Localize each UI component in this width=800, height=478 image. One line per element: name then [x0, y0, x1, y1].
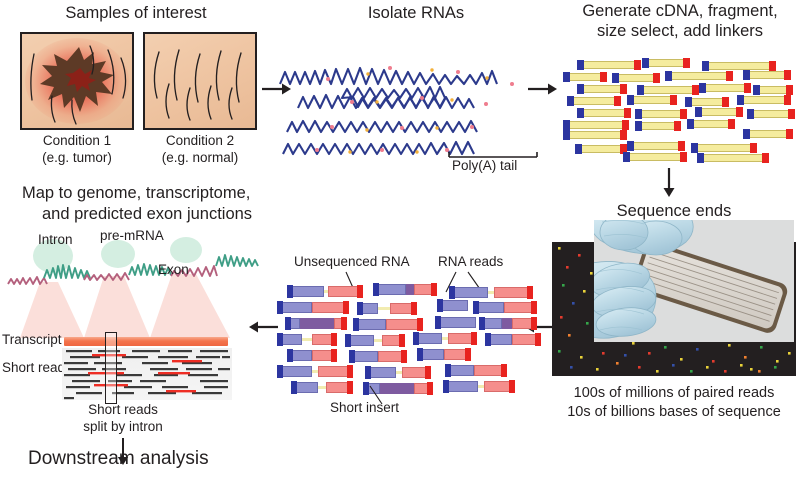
cdna-fragment — [626, 153, 684, 161]
arrow-rna-to-cdna — [528, 80, 558, 98]
cdna-fragment — [566, 121, 626, 129]
tumor-hairs — [22, 34, 134, 130]
read-pair — [474, 302, 536, 313]
read-pair — [414, 333, 476, 344]
cdna-fragment — [580, 85, 624, 93]
read-pair — [444, 381, 514, 392]
cdna-fragment — [746, 130, 790, 138]
read-pair — [374, 284, 436, 295]
cdna-fragment — [638, 110, 684, 118]
cdna-fragment — [638, 122, 678, 130]
cdna-fragment — [570, 97, 618, 105]
cdna-fragment — [756, 86, 790, 94]
read-pair — [438, 300, 468, 311]
read-pair-group — [278, 286, 550, 394]
cdna-heading-line2: size select, add linkers — [560, 22, 800, 40]
short-insert-label: Short insert — [330, 400, 399, 415]
cdna-fragment-group — [560, 58, 800, 163]
cdna-fragment — [580, 61, 638, 69]
mapping-heading-line2: and predicted exon junctions — [42, 205, 332, 223]
read-pair — [288, 350, 336, 361]
cdna-heading-line1: Generate cDNA, fragment, — [560, 2, 800, 20]
cdna-fragment — [630, 96, 674, 104]
condition-1-label-line1: Condition 1 — [6, 133, 148, 148]
samples-panel: Samples of interest — [0, 0, 272, 175]
transcript-label: Transcript — [2, 332, 62, 347]
mapped-reads — [62, 348, 232, 400]
read-pair — [354, 319, 422, 330]
flowcell-photo — [594, 220, 794, 342]
read-pair — [346, 335, 404, 346]
polya-tail-label: Poly(A) tail — [452, 158, 517, 173]
unsequenced-rna-label: Unsequenced RNA — [294, 254, 410, 269]
cdna-fragment — [668, 72, 730, 80]
mapped-reads-stack — [62, 348, 232, 400]
split-reads-caption-line2: split by intron — [48, 419, 198, 434]
cdna-fragment — [645, 59, 687, 67]
cdna-fragment — [705, 62, 773, 70]
isolate-rna-heading: Isolate RNAs — [272, 4, 560, 22]
cdna-fragment — [640, 86, 696, 94]
cdna-fragment — [566, 131, 624, 139]
tumor-tissue-image — [20, 32, 134, 130]
gloved-hand-flowcell-illustration — [594, 220, 794, 342]
cdna-fragment — [740, 96, 788, 104]
condition-1-label-line2: (e.g. tumor) — [6, 150, 148, 165]
sequence-stat-line1: 100s of millions of paired reads — [548, 385, 800, 401]
cdna-fragment — [615, 74, 657, 82]
condition-2-label-line2: (e.g. normal) — [129, 150, 271, 165]
cdna-fragment — [750, 110, 792, 118]
read-pair — [418, 349, 470, 360]
rna-reads-label: RNA reads — [438, 254, 503, 269]
reads-panel: Unsequenced RNA RNA reads — [278, 252, 550, 422]
cdna-fragment — [746, 71, 788, 79]
cdna-fragment — [688, 98, 726, 106]
split-reads-caption-line1: Short reads — [48, 402, 198, 417]
intron-label: Intron — [38, 232, 73, 247]
normal-tissue-image — [143, 32, 257, 130]
premrna-label: pre-mRNA — [100, 228, 164, 243]
cdna-fragment — [566, 73, 604, 81]
mapping-panel: Map to genome, transcriptome, and predic… — [0, 180, 290, 478]
read-pair — [358, 303, 416, 314]
condition-2-label-line1: Condition 2 — [129, 133, 271, 148]
cdna-fragment — [578, 145, 624, 153]
sequence-heading: Sequence ends — [548, 202, 800, 220]
read-pair — [450, 287, 532, 298]
cdna-fragment — [702, 84, 748, 92]
rna-strands — [272, 32, 560, 162]
exon-label: Exon — [158, 262, 189, 277]
read-pair — [350, 351, 406, 362]
read-pair — [446, 365, 506, 376]
cdna-fragment — [700, 154, 766, 162]
cdna-fragment — [690, 120, 732, 128]
read-pair — [288, 286, 362, 297]
split-read-highlight-box — [105, 332, 117, 404]
samples-heading: Samples of interest — [0, 4, 272, 22]
read-pair — [286, 318, 346, 329]
sequence-panel: Sequence ends — [548, 190, 800, 442]
cdna-fragment — [698, 108, 740, 116]
diagram-canvas: Samples of interest — [0, 0, 800, 478]
cdna-fragment — [580, 109, 628, 117]
cdna-fragment — [694, 144, 754, 152]
cdna-panel: Generate cDNA, fragment, size select, ad… — [560, 0, 800, 185]
isolate-rna-panel: Isolate RNAs — [272, 0, 560, 182]
downstream-analysis-heading: Downstream analysis — [28, 448, 209, 469]
cdna-fragment — [630, 142, 682, 150]
read-pair — [486, 334, 540, 345]
read-pair — [366, 367, 430, 378]
normal-hairs — [145, 34, 257, 130]
read-pair — [436, 317, 476, 328]
transcript-bar — [64, 337, 228, 346]
mapping-heading-line1: Map to genome, transcriptome, — [22, 184, 312, 202]
sequence-stat-line2: 10s of billions bases of sequence — [548, 404, 800, 420]
read-pair — [480, 318, 536, 329]
